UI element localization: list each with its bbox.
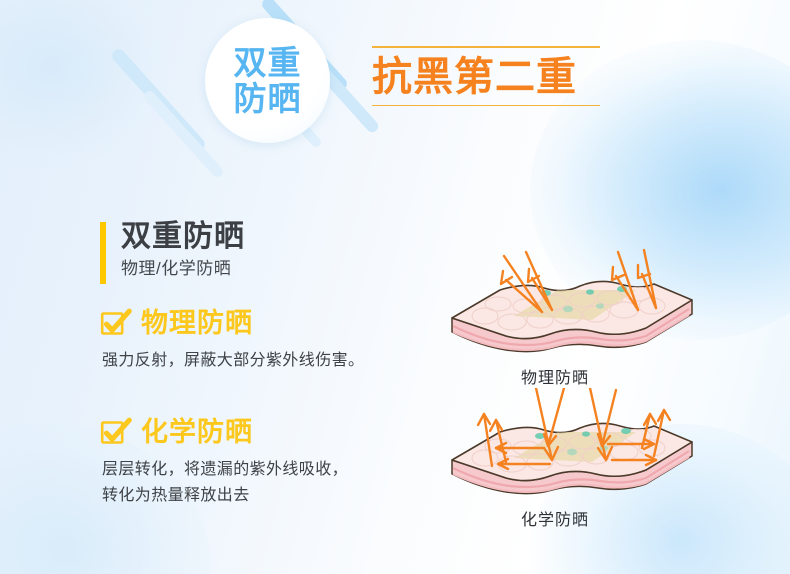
headline-group: 抗黑第二重 [372, 46, 600, 106]
skin-cross-section-physical [440, 246, 710, 366]
poster-canvas: 双重 防晒 抗黑第二重 双重防晒 物理/化学防晒 物理防晒 [0, 0, 790, 574]
badge-line-1: 双重 [234, 45, 302, 81]
feature-description: 强力反射，屏蔽大部分紫外线伤害。 [100, 348, 430, 374]
illustration-caption: 化学防晒 [440, 510, 670, 532]
section-title: 双重防晒 [121, 218, 430, 256]
feature-title: 化学防晒 [141, 416, 253, 448]
checkbox-check-icon [100, 308, 132, 338]
title-accent-bar [100, 222, 106, 284]
feature-description: 层层转化，将遗漏的紫外线吸收， 转化为热量释放出去 [100, 457, 430, 509]
feature-physical: 物理防晒 强力反射，屏蔽大部分紫外线伤害。 [100, 307, 430, 374]
feature-heading-row: 化学防晒 [100, 416, 430, 448]
feature-description-line: 强力反射，屏蔽大部分紫外线伤害。 [102, 348, 430, 374]
chemical-sunscreen-diagram: 化学防晒 [440, 388, 740, 532]
feature-description-line: 层层转化，将遗漏的紫外线吸收， [102, 457, 430, 483]
section-subtitle: 物理/化学防晒 [121, 256, 430, 281]
dual-protection-badge: 双重 防晒 [205, 18, 330, 143]
header-band: 双重 防晒 抗黑第二重 [0, 0, 790, 160]
skin-cross-section-chemical [440, 388, 710, 508]
feature-description-line: 转化为热量释放出去 [102, 483, 430, 509]
illustration-caption: 物理防晒 [440, 368, 670, 390]
feature-spacer [100, 386, 430, 416]
feature-heading-row: 物理防晒 [100, 307, 430, 339]
feature-title: 物理防晒 [141, 307, 253, 339]
checkbox-check-icon [100, 417, 132, 447]
badge-line-2: 防晒 [234, 81, 302, 117]
page-title: 抗黑第二重 [372, 48, 600, 105]
feature-chemical: 化学防晒 层层转化，将遗漏的紫外线吸收， 转化为热量释放出去 [100, 416, 430, 509]
section-title-block: 双重防晒 物理/化学防晒 [100, 218, 430, 281]
physical-sunscreen-diagram: 物理防晒 [440, 246, 740, 390]
feature-text-column: 双重防晒 物理/化学防晒 物理防晒 强力反射，屏蔽大部分紫外线伤害。 [100, 218, 430, 521]
headline-rule-bottom [372, 105, 600, 107]
